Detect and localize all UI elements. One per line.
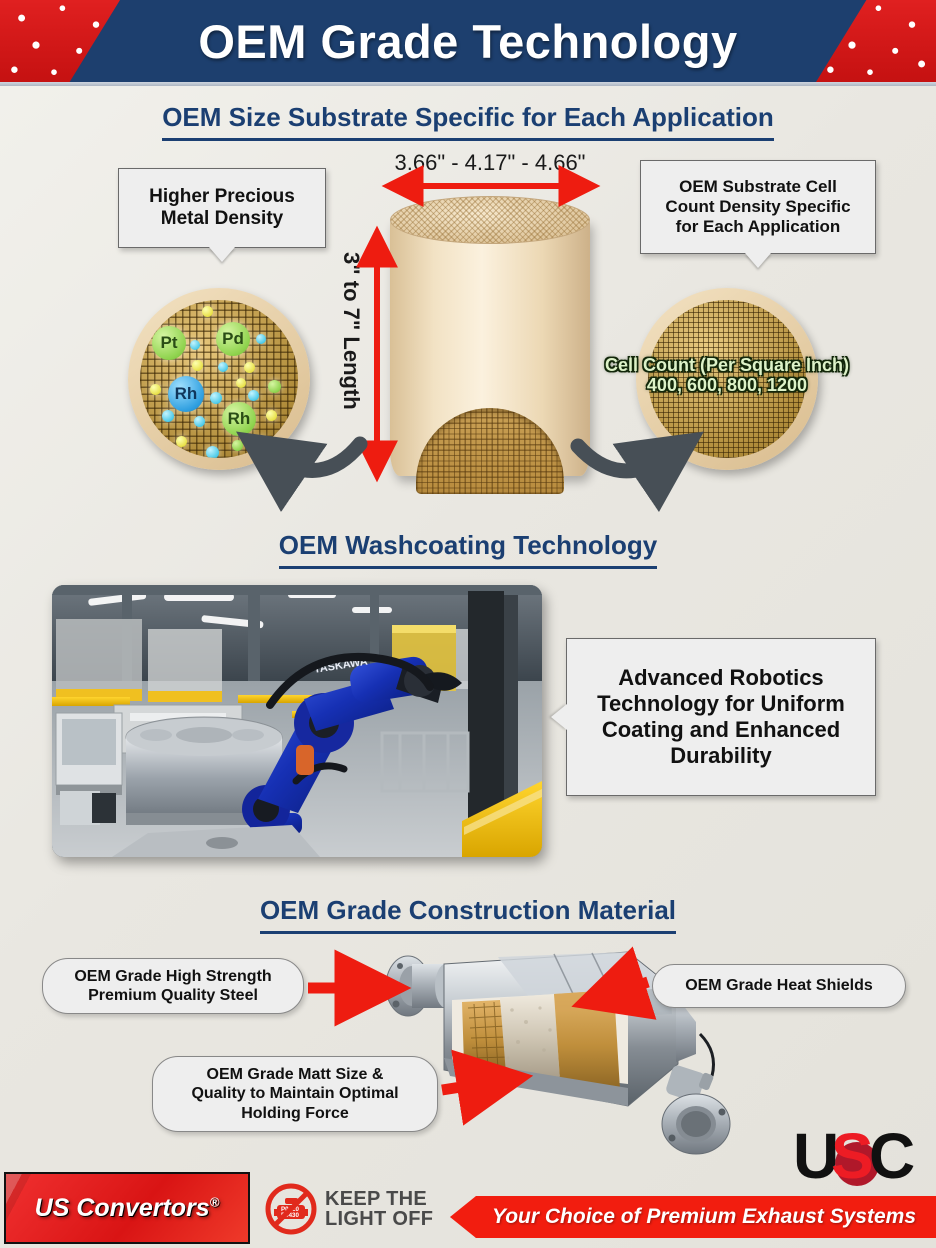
callout-line: Technology for Uniform bbox=[597, 691, 845, 717]
precious-metal-dot bbox=[176, 436, 187, 447]
callout-line: Coating and Enhanced bbox=[597, 717, 845, 743]
section-heading-washcoating: OEM Washcoating Technology bbox=[0, 530, 936, 569]
no-check-engine-light-icon: P0420 P0430 bbox=[265, 1183, 317, 1235]
keep-light-line1: KEEP THE bbox=[325, 1189, 433, 1209]
callout-line: for Each Application bbox=[665, 217, 850, 237]
callout-oem-grade-steel: OEM Grade High Strength Premium Quality … bbox=[42, 958, 304, 1014]
callout-higher-precious-metal-density: Higher Precious Metal Density bbox=[118, 168, 326, 248]
callout-line: OEM Grade Heat Shields bbox=[685, 976, 873, 995]
callout-line: Metal Density bbox=[149, 208, 295, 230]
callout-oem-grade-heat-shields: OEM Grade Heat Shields bbox=[652, 964, 906, 1008]
callout-line: Count Density Specific bbox=[665, 197, 850, 217]
page-title: OEM Grade Technology bbox=[0, 0, 936, 82]
precious-metal-dot bbox=[218, 362, 228, 372]
callout-oem-grade-matt: OEM Grade Matt Size & Quality to Maintai… bbox=[152, 1056, 438, 1132]
callout-line: Durability bbox=[597, 743, 845, 769]
registered-mark: ® bbox=[210, 1194, 220, 1209]
callout-line: Premium Quality Steel bbox=[74, 986, 271, 1005]
precious-metal-dot bbox=[192, 360, 203, 371]
cell-count-label: Cell Count (Per Square Inch) 400, 600, 8… bbox=[586, 355, 868, 395]
pm-label: Rh bbox=[175, 384, 198, 404]
precious-metal-bubble-rh-green: Rh bbox=[222, 402, 256, 436]
precious-metal-dot bbox=[248, 390, 259, 401]
section-heading-construction-text: OEM Grade Construction Material bbox=[260, 895, 676, 934]
keep-the-light-off-badge: P0420 P0430 KEEP THE LIGHT OFF bbox=[265, 1183, 433, 1235]
honeycomb-mesh: Pt Pd Rh Rh bbox=[140, 300, 298, 458]
precious-metal-dot bbox=[266, 410, 277, 421]
keep-the-light-off-text: KEEP THE LIGHT OFF bbox=[325, 1189, 433, 1230]
brand-name: US Convertors bbox=[35, 1194, 210, 1222]
pm-label: Pt bbox=[161, 333, 178, 353]
substrate-cylinder bbox=[390, 196, 590, 496]
callout-oem-substrate-cell-count: OEM Substrate Cell Count Density Specifi… bbox=[640, 160, 876, 254]
substrate-cylinder-top-honeycomb bbox=[390, 196, 590, 244]
precious-metal-dot bbox=[206, 446, 219, 458]
keep-light-line2: LIGHT OFF bbox=[325, 1209, 433, 1229]
precious-metal-density-circle: Pt Pd Rh Rh bbox=[128, 288, 310, 470]
precious-metal-dot bbox=[202, 306, 213, 317]
robot-photo-illustration: YASKAWA bbox=[52, 585, 542, 857]
washcoating-robot-photo: YASKAWA bbox=[52, 585, 542, 857]
callout-line: OEM Grade Matt Size & bbox=[191, 1065, 398, 1084]
cell-count-line2: 400, 600, 800, 1200 bbox=[586, 375, 868, 395]
curved-arrow-right bbox=[578, 446, 668, 471]
cell-count-line1: Cell Count (Per Square Inch) bbox=[586, 355, 868, 375]
callout-line: OEM Substrate Cell bbox=[665, 177, 850, 197]
precious-metal-dot bbox=[150, 384, 161, 395]
section-heading-washcoating-text: OEM Washcoating Technology bbox=[279, 530, 657, 569]
precious-metal-bubble-rh-blue: Rh bbox=[168, 376, 204, 412]
infographic-page: OEM Grade Technology OEM Size Substrate … bbox=[0, 0, 936, 1248]
tagline-text: Your Choice of Premium Exhaust Systems bbox=[470, 1205, 916, 1229]
callout-line: Advanced Robotics bbox=[597, 665, 845, 691]
callout-line: Quality to Maintain Optimal bbox=[191, 1084, 398, 1103]
precious-metal-dot bbox=[232, 440, 243, 451]
section-heading-size-text: OEM Size Substrate Specific for Each App… bbox=[162, 102, 774, 141]
substrate-diameter-label: 3.66" - 4.17" - 4.66" bbox=[340, 150, 640, 176]
substrate-length-label: 3" to 7" Length bbox=[338, 252, 364, 410]
callout-line: Higher Precious bbox=[149, 186, 295, 208]
usc-logo-u: U bbox=[795, 1120, 836, 1190]
precious-metal-dot bbox=[236, 378, 246, 388]
precious-metal-dot bbox=[256, 334, 266, 344]
precious-metal-dot bbox=[190, 340, 200, 350]
section-heading-size: OEM Size Substrate Specific for Each App… bbox=[0, 102, 936, 141]
us-convertors-logo-badge: US Convertors® bbox=[4, 1172, 250, 1244]
callout-line: Holding Force bbox=[191, 1104, 398, 1123]
precious-metal-bubble-pd: Pd bbox=[216, 322, 250, 356]
callout-tail-icon bbox=[551, 704, 567, 730]
precious-metal-dot bbox=[162, 410, 174, 422]
pm-label: Rh bbox=[228, 409, 251, 429]
callout-line: OEM Grade High Strength bbox=[74, 967, 271, 986]
header-divider bbox=[0, 82, 936, 86]
section-heading-construction: OEM Grade Construction Material bbox=[0, 895, 936, 934]
curved-arrow-left bbox=[272, 444, 360, 470]
page-header: OEM Grade Technology bbox=[0, 0, 936, 82]
precious-metal-dot bbox=[210, 392, 222, 404]
us-convertors-wordmark: US Convertors® bbox=[35, 1194, 220, 1223]
precious-metal-dot bbox=[244, 362, 255, 373]
callout-advanced-robotics: Advanced Robotics Technology for Uniform… bbox=[566, 638, 876, 796]
usc-logo-c: C bbox=[869, 1120, 914, 1190]
tagline-banner: Your Choice of Premium Exhaust Systems bbox=[450, 1196, 936, 1238]
precious-metal-dot bbox=[256, 436, 267, 447]
callout-tail-icon bbox=[209, 247, 235, 262]
usc-logo: U S C bbox=[795, 1118, 923, 1190]
precious-metal-dot bbox=[194, 416, 205, 427]
pm-label: Pd bbox=[222, 329, 244, 349]
precious-metal-dot bbox=[268, 380, 281, 393]
callout-tail-icon bbox=[745, 253, 771, 268]
precious-metal-bubble-pt: Pt bbox=[152, 326, 186, 360]
